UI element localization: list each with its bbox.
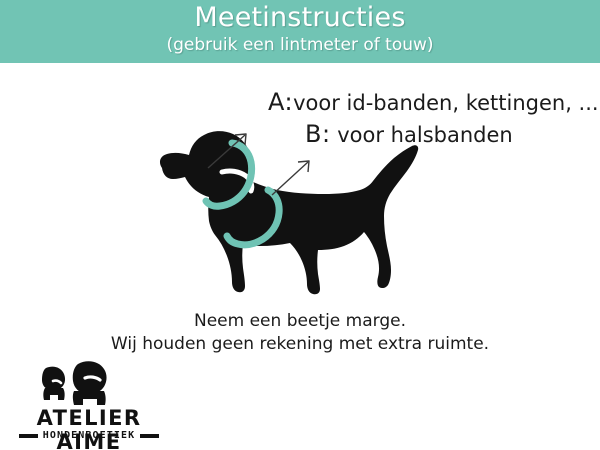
- tagline-rule-right: [140, 434, 159, 438]
- footnote-line-1: Neem een beetje marge.: [0, 310, 600, 333]
- header-band: Meetinstructies (gebruik een lintmeter o…: [0, 0, 600, 63]
- logo-wordmark: ATELIER AIME: [16, 406, 162, 450]
- page-title: Meetinstructies: [0, 3, 600, 33]
- meetinstructies-infographic: Meetinstructies (gebruik een lintmeter o…: [0, 0, 600, 450]
- dog-silhouette-icon: [160, 131, 418, 294]
- footnote-line-2: Wij houden geen rekening met extra ruimt…: [0, 333, 600, 356]
- two-dogs-logo-icon: [32, 358, 116, 406]
- page-subtitle: (gebruik een lintmeter of touw): [0, 34, 600, 56]
- footnote: Neem een beetje marge. Wij houden geen r…: [0, 310, 600, 356]
- logo-tagline: HONDENBOETIEK: [43, 430, 136, 442]
- arrow-to-band-b: [272, 161, 309, 195]
- tagline-rule-left: [19, 434, 38, 438]
- brand-logo: ATELIER AIME HONDENBOETIEK: [16, 358, 166, 442]
- dog-measurement-illustration: [150, 100, 450, 305]
- logo-tagline-row: HONDENBOETIEK: [16, 430, 162, 442]
